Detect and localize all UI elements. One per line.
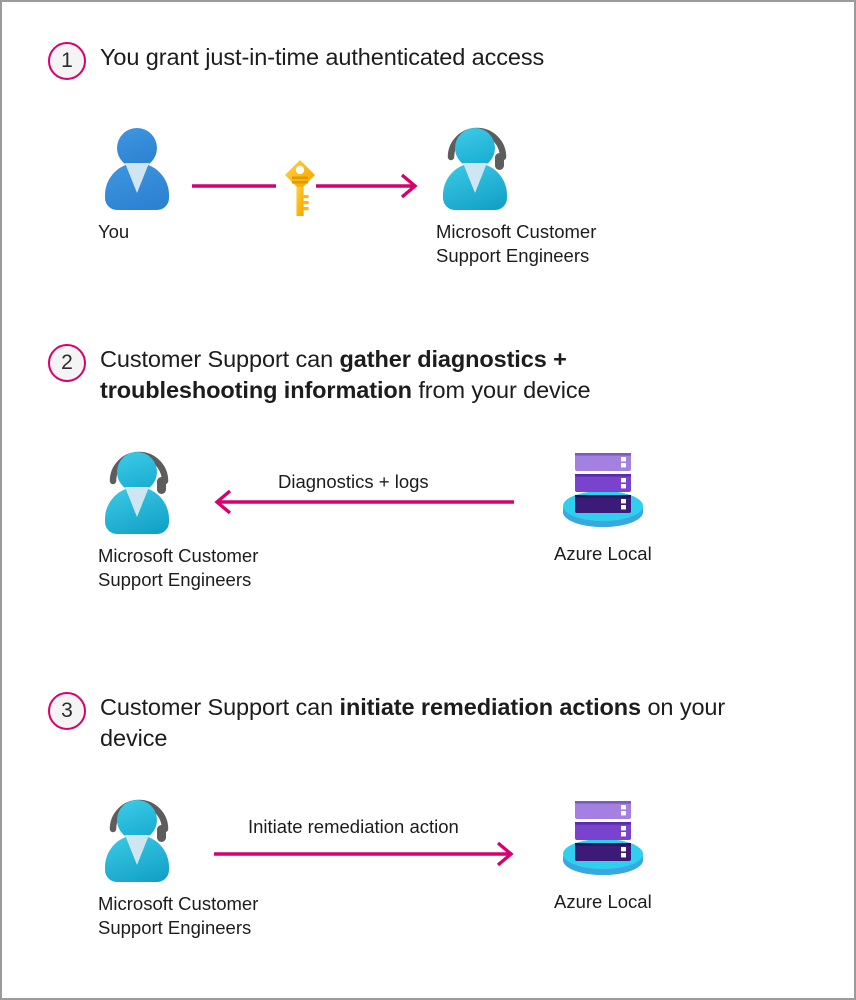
step-3-text-part-2: initiate remediation actions	[340, 694, 641, 720]
step-1-text: You grant just-in-time authenticated acc…	[100, 42, 544, 73]
avatar-head	[117, 128, 157, 168]
person-headset-icon	[98, 794, 176, 886]
arrow-2-left	[208, 486, 514, 518]
avatar-head	[455, 128, 495, 168]
arrow-3-label: Initiate remediation action	[248, 816, 459, 838]
node-azure-local-label-3: Azure Local	[554, 890, 652, 914]
node-support-engineers-1: Microsoft Customer Support Engineers	[436, 122, 596, 268]
node-support-engineers-2: Microsoft Customer Support Engineers	[98, 446, 258, 592]
diagram-canvas: 1 You grant just-in-time authenticated a…	[0, 0, 856, 1000]
step-3-header: 3 Customer Support can initiate remediat…	[48, 692, 740, 754]
step-1-badge: 1	[48, 42, 86, 80]
arrow-3-right	[214, 838, 520, 870]
node-support-engineers-label-3: Microsoft Customer Support Engineers	[98, 892, 258, 940]
node-azure-local-3: Azure Local	[554, 792, 652, 914]
node-you: You	[98, 122, 176, 244]
step-2-header: 2 Customer Support can gather diagnostic…	[48, 344, 740, 406]
step-3-text-part-1: Customer Support can	[100, 694, 340, 720]
step-3-badge: 3	[48, 692, 86, 730]
node-you-label: You	[98, 220, 176, 244]
node-azure-local-2: Azure Local	[554, 444, 652, 566]
step-2-text-part-3: from your device	[412, 377, 591, 403]
step-1-header: 1 You grant just-in-time authenticated a…	[48, 42, 544, 80]
server-stack-svg	[555, 444, 651, 536]
key-icon	[283, 159, 317, 217]
avatar-head	[117, 452, 157, 492]
person-headset-icon	[98, 446, 176, 538]
node-azure-local-label-2: Azure Local	[554, 542, 652, 566]
server-stack-icon	[555, 444, 651, 536]
node-support-engineers-label-2: Microsoft Customer Support Engineers	[98, 544, 258, 592]
step-1-text-part-1: You grant just-in-time authenticated acc…	[100, 44, 544, 70]
person-blue-icon	[98, 122, 176, 214]
step-2-text: Customer Support can gather diagnostics …	[100, 344, 740, 406]
node-support-engineers-label-1: Microsoft Customer Support Engineers	[436, 220, 596, 268]
step-2-figure: Microsoft Customer Support Engineers Dia…	[2, 446, 856, 596]
step-2-badge: 2	[48, 344, 86, 382]
server-stack-svg	[555, 792, 651, 884]
step-3-figure: Microsoft Customer Support Engineers Ini…	[2, 794, 856, 944]
step-1-figure: You	[2, 122, 856, 272]
step-3-text: Customer Support can initiate remediatio…	[100, 692, 740, 754]
person-headset-icon	[436, 122, 514, 214]
step-2-text-part-1: Customer Support can	[100, 346, 340, 372]
server-stack-icon	[555, 792, 651, 884]
avatar-head	[117, 800, 157, 840]
